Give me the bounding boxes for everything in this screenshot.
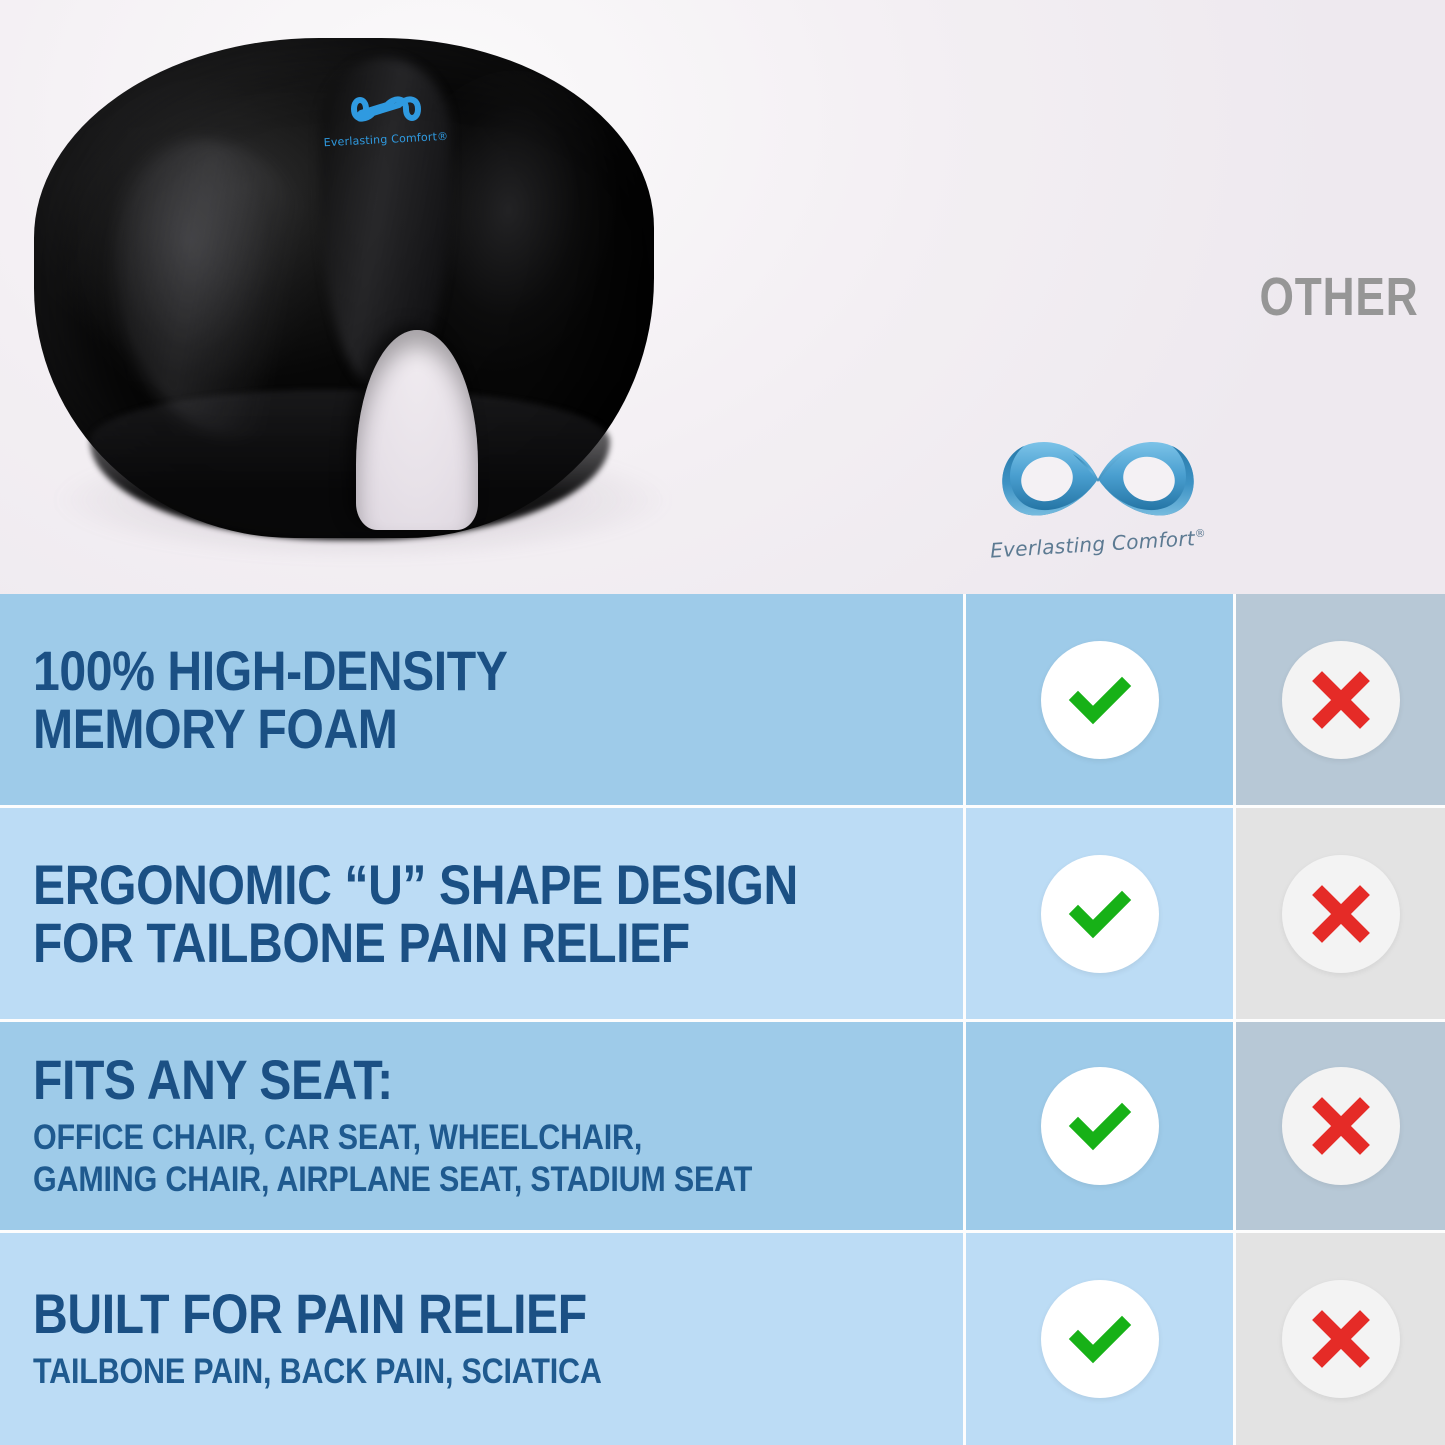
table-row: FITS ANY SEAT: OFFICE CHAIR, CAR SEAT, W… [0,1022,1445,1233]
feature-subtext: OFFICE CHAIR, CAR SEAT, WHEELCHAIR, GAMI… [33,1117,819,1201]
status-badge [1041,1067,1159,1185]
other-status-cell [1233,594,1445,805]
check-icon [1064,1090,1136,1162]
brand-logo-header: Everlasting Comfort® [963,0,1233,594]
brand-status-cell [963,1022,1233,1230]
feature-title: 100% HIGH-DENSITY MEMORY FOAM [33,642,810,757]
product-comparison-infographic: Everlasting Comfort® [0,0,1445,1445]
cross-icon [1308,1306,1374,1372]
brand-status-cell [963,594,1233,805]
infinity-icon [343,86,429,132]
check-icon [1064,878,1136,950]
cushion-front-lip [90,390,610,540]
status-badge [1282,641,1400,759]
table-row: 100% HIGH-DENSITY MEMORY FOAM [0,594,1445,808]
other-status-cell [1233,808,1445,1019]
comparison-column-headers: Everlasting Comfort® OTHER [963,0,1445,594]
feature-description-cell: ERGONOMIC “U” SHAPE DESIGN FOR TAILBONE … [0,808,963,1019]
status-badge [1041,1280,1159,1398]
hero-background: Everlasting Comfort® [0,0,1445,594]
other-label: OTHER [1259,266,1418,328]
brand-status-cell [963,808,1233,1019]
feature-title: ERGONOMIC “U” SHAPE DESIGN FOR TAILBONE … [33,856,810,971]
feature-description-cell: FITS ANY SEAT: OFFICE CHAIR, CAR SEAT, W… [0,1022,963,1230]
check-icon [1064,664,1136,736]
feature-description-cell: 100% HIGH-DENSITY MEMORY FOAM [0,594,963,805]
embroidered-logo-text: Everlasting Comfort® [316,129,456,149]
status-badge [1282,1067,1400,1185]
other-status-cell [1233,1022,1445,1230]
status-badge [1282,1280,1400,1398]
other-column-header: OTHER [1233,0,1445,594]
embroidered-brand-logo: Everlasting Comfort® [316,86,456,178]
product-photo-seat-cushion: Everlasting Comfort® [20,18,680,558]
table-row: ERGONOMIC “U” SHAPE DESIGN FOR TAILBONE … [0,808,1445,1022]
cross-icon [1308,881,1374,947]
comparison-table: 100% HIGH-DENSITY MEMORY FOAM [0,594,1445,1445]
status-badge [1041,641,1159,759]
table-row: BUILT FOR PAIN RELIEF TAILBONE PAIN, BAC… [0,1233,1445,1445]
status-badge [1041,855,1159,973]
cross-icon [1308,667,1374,733]
cross-icon [1308,1093,1374,1159]
feature-description-cell: BUILT FOR PAIN RELIEF TAILBONE PAIN, BAC… [0,1233,963,1445]
other-status-cell [1233,1233,1445,1445]
infinity-logo-icon [989,424,1207,534]
brand-status-cell [963,1233,1233,1445]
feature-title: FITS ANY SEAT: [33,1051,810,1109]
feature-title: BUILT FOR PAIN RELIEF [33,1285,810,1343]
feature-subtext: TAILBONE PAIN, BACK PAIN, SCIATICA [33,1351,819,1393]
check-icon [1064,1303,1136,1375]
status-badge [1282,855,1400,973]
